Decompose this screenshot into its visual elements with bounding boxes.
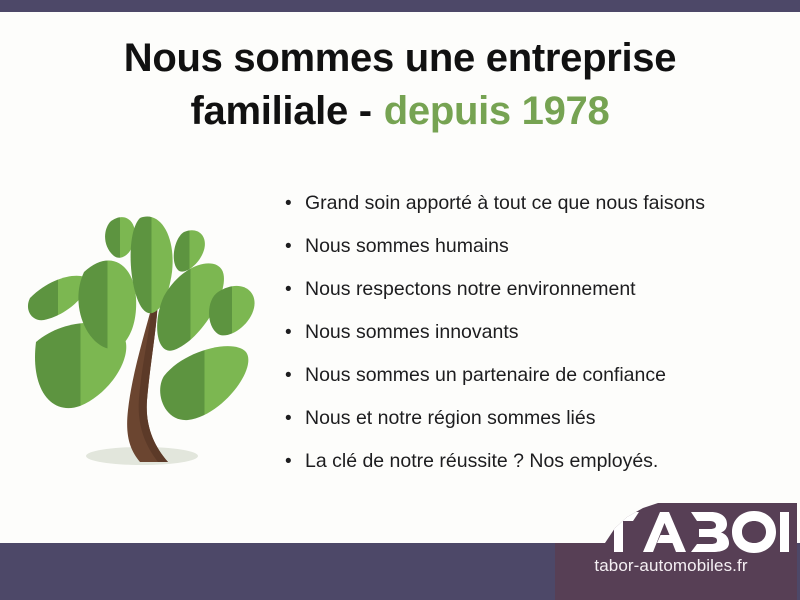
- list-item: • Nous sommes un partenaire de confiance: [285, 364, 765, 407]
- list-item-label: Nous et notre région sommes liés: [305, 407, 595, 430]
- tree-illustration: [18, 188, 268, 488]
- list-item-label: Nous sommes humains: [305, 235, 509, 258]
- bullet-marker-icon: •: [285, 237, 305, 256]
- list-item: • Nous sommes innovants: [285, 321, 765, 364]
- list-item-label: Grand soin apporté à tout ce que nous fa…: [305, 192, 705, 215]
- bullet-marker-icon: •: [285, 194, 305, 213]
- list-item: • La clé de notre réussite ? Nos employé…: [285, 450, 765, 493]
- title-line-1: Nous sommes une entreprise: [60, 32, 740, 85]
- bullet-marker-icon: •: [285, 452, 305, 471]
- page-title: Nous sommes une entreprise familiale -de…: [60, 32, 740, 138]
- leaf-right-large-lower: [160, 346, 248, 420]
- title-line-2: familiale -depuis 1978: [60, 85, 740, 138]
- list-item: • Grand soin apporté à tout ce que nous …: [285, 192, 765, 235]
- slide-canvas: Nous sommes une entreprise familiale -de…: [0, 0, 800, 600]
- bullet-marker-icon: •: [285, 323, 305, 342]
- top-accent-bar: [0, 0, 800, 12]
- bullet-marker-icon: •: [285, 366, 305, 385]
- bullet-marker-icon: •: [285, 409, 305, 428]
- list-item-label: Nous sommes un partenaire de confiance: [305, 364, 666, 387]
- value-bullet-list: • Grand soin apporté à tout ce que nous …: [285, 192, 765, 493]
- list-item: • Nous et notre région sommes liés: [285, 407, 765, 450]
- list-item-label: La clé de notre réussite ? Nos employés.: [305, 450, 658, 473]
- bullet-marker-icon: •: [285, 280, 305, 299]
- leaf-top-small: [105, 217, 135, 258]
- logo-tagline: tabor-automobiles.fr: [555, 556, 797, 576]
- list-item: • Nous sommes humains: [285, 235, 765, 278]
- list-item-label: Nous sommes innovants: [305, 321, 519, 344]
- title-line-2-plain: familiale -: [191, 89, 372, 133]
- list-item-label: Nous respectons notre environnement: [305, 278, 636, 301]
- tabor-wordmark-logo: [599, 508, 789, 556]
- title-line-2-accent: depuis 1978: [384, 89, 610, 133]
- brand-logo-panel: tabor-automobiles.fr: [555, 503, 797, 600]
- list-item: • Nous respectons notre environnement: [285, 278, 765, 321]
